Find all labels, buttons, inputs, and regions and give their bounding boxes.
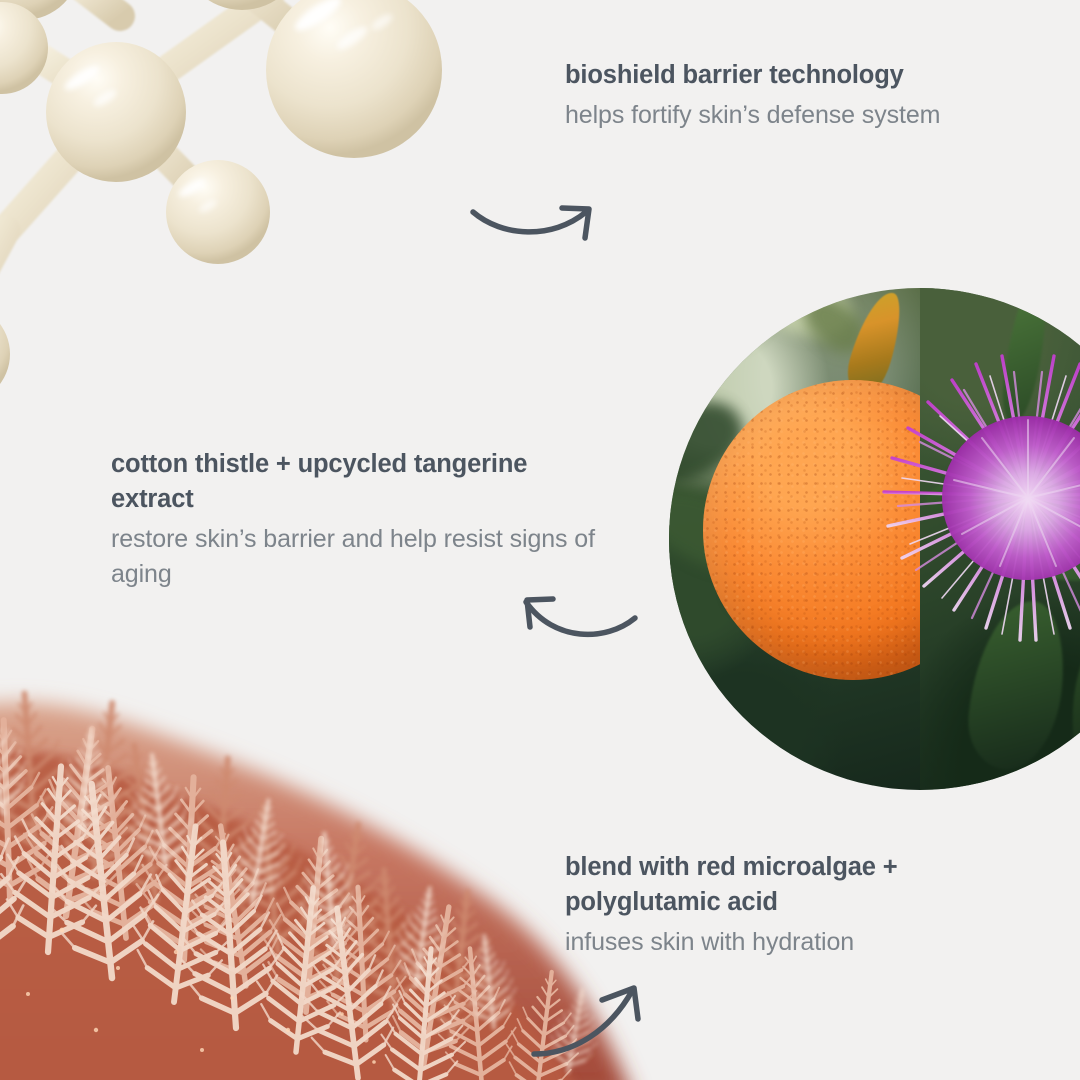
algae-tall-sprigs [0, 693, 606, 1076]
callout-microalgae-body: infuses skin with hydration [565, 925, 1035, 960]
tangerine-photo-half [669, 288, 920, 790]
callout-thistle-heading: cotton thistle + upcycled tangerine extr… [111, 447, 611, 517]
molecule-graphic [0, 0, 500, 450]
callout-bioshield-body: helps fortify skin’s defense system [565, 98, 1035, 133]
algae-sparkles [26, 928, 376, 1064]
thistle-photo-half [920, 288, 1080, 790]
curved-arrow-up-right-icon [528, 978, 678, 1073]
callout-microalgae-heading: blend with red microalgae + polyglutamic… [565, 850, 1035, 920]
molecule-specular-highlights [0, 0, 395, 341]
callout-bioshield-heading: bioshield barrier technology [565, 58, 1035, 93]
split-circle-photo [669, 288, 1080, 790]
curved-arrow-left-up-icon [512, 578, 662, 658]
infographic-canvas: bioshield barrier technology helps forti… [0, 0, 1080, 1080]
curved-arrow-right-up-icon [468, 190, 618, 270]
callout-microalgae: blend with red microalgae + polyglutamic… [565, 850, 1035, 960]
callout-bioshield: bioshield barrier technology helps forti… [565, 58, 1035, 133]
molecule-bonds [0, 0, 302, 334]
algae-fronds-front [0, 759, 473, 1080]
algae-fronds-main [0, 716, 588, 1080]
algae-fronds-back [0, 690, 508, 1042]
callout-thistle: cotton thistle + upcycled tangerine extr… [111, 447, 611, 592]
algae-midground-mass [0, 751, 582, 1080]
molecule-atoms [0, 0, 442, 404]
